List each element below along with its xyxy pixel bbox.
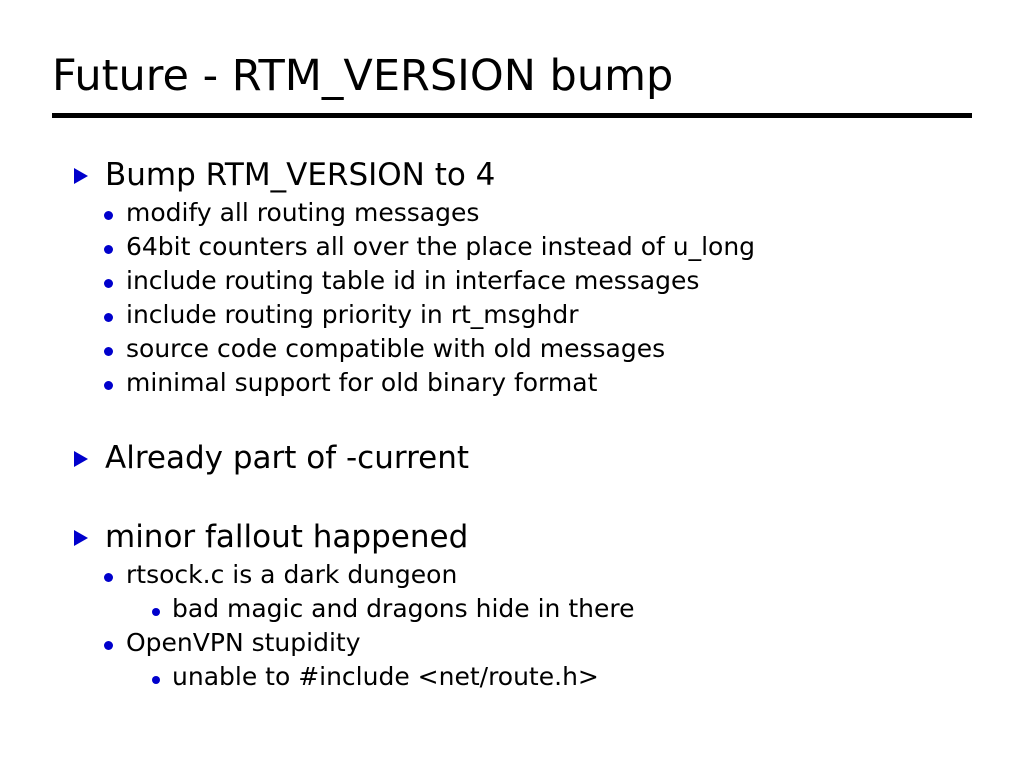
bullet-dot-icon bbox=[104, 313, 126, 322]
slide: Future - RTM_VERSION bump Bump RTM_VERSI… bbox=[0, 0, 1024, 768]
bullet-level2: source code compatible with old messages bbox=[0, 332, 1024, 366]
bullet-dot-small-icon bbox=[152, 676, 172, 684]
bullet-level2: OpenVPN stupidity bbox=[0, 626, 1024, 660]
bullet-level2: 64bit counters all over the place instea… bbox=[0, 230, 1024, 264]
bullet-level1: Bump RTM_VERSION to 4 bbox=[0, 155, 1024, 196]
triangle-right-icon bbox=[74, 168, 105, 184]
bullet-label: OpenVPN stupidity bbox=[126, 626, 361, 660]
bullet-dot-icon bbox=[104, 211, 126, 220]
bullet-label: minor fallout happened bbox=[105, 517, 468, 558]
bullet-label: Bump RTM_VERSION to 4 bbox=[105, 155, 495, 196]
bullet-dot-icon bbox=[104, 573, 126, 582]
bullet-label: bad magic and dragons hide in there bbox=[172, 592, 634, 626]
page-title: Future - RTM_VERSION bump bbox=[52, 48, 972, 104]
section-spacer bbox=[0, 400, 1024, 438]
bullet-label: unable to #include <net/route.h> bbox=[172, 660, 599, 694]
bullet-label: 64bit counters all over the place instea… bbox=[126, 230, 755, 264]
slide-body: Bump RTM_VERSION to 4 modify all routing… bbox=[0, 155, 1024, 694]
bullet-dot-small-icon bbox=[152, 608, 172, 616]
bullet-level3: unable to #include <net/route.h> bbox=[0, 660, 1024, 694]
bullet-label: include routing priority in rt_msghdr bbox=[126, 298, 579, 332]
bullet-level2: rtsock.c is a dark dungeon bbox=[0, 558, 1024, 592]
bullet-label: include routing table id in interface me… bbox=[126, 264, 699, 298]
bullet-label: modify all routing messages bbox=[126, 196, 479, 230]
bullet-label: source code compatible with old messages bbox=[126, 332, 665, 366]
bullet-dot-icon bbox=[104, 381, 126, 390]
bullet-label: minimal support for old binary format bbox=[126, 366, 597, 400]
bullet-label: Already part of -current bbox=[105, 438, 469, 479]
bullet-dot-icon bbox=[104, 245, 126, 254]
title-block: Future - RTM_VERSION bump bbox=[52, 48, 972, 104]
bullet-level2: include routing table id in interface me… bbox=[0, 264, 1024, 298]
bullet-dot-icon bbox=[104, 347, 126, 356]
bullet-label: rtsock.c is a dark dungeon bbox=[126, 558, 457, 592]
triangle-right-icon bbox=[74, 451, 105, 467]
bullet-level2: minimal support for old binary format bbox=[0, 366, 1024, 400]
bullet-level3: bad magic and dragons hide in there bbox=[0, 592, 1024, 626]
triangle-right-icon bbox=[74, 530, 105, 546]
bullet-level1: Already part of -current bbox=[0, 438, 1024, 479]
bullet-level2: modify all routing messages bbox=[0, 196, 1024, 230]
bullet-level1: minor fallout happened bbox=[0, 517, 1024, 558]
section-spacer bbox=[0, 479, 1024, 517]
bullet-dot-icon bbox=[104, 641, 126, 650]
bullet-level2: include routing priority in rt_msghdr bbox=[0, 298, 1024, 332]
bullet-dot-icon bbox=[104, 279, 126, 288]
title-divider bbox=[52, 113, 972, 118]
